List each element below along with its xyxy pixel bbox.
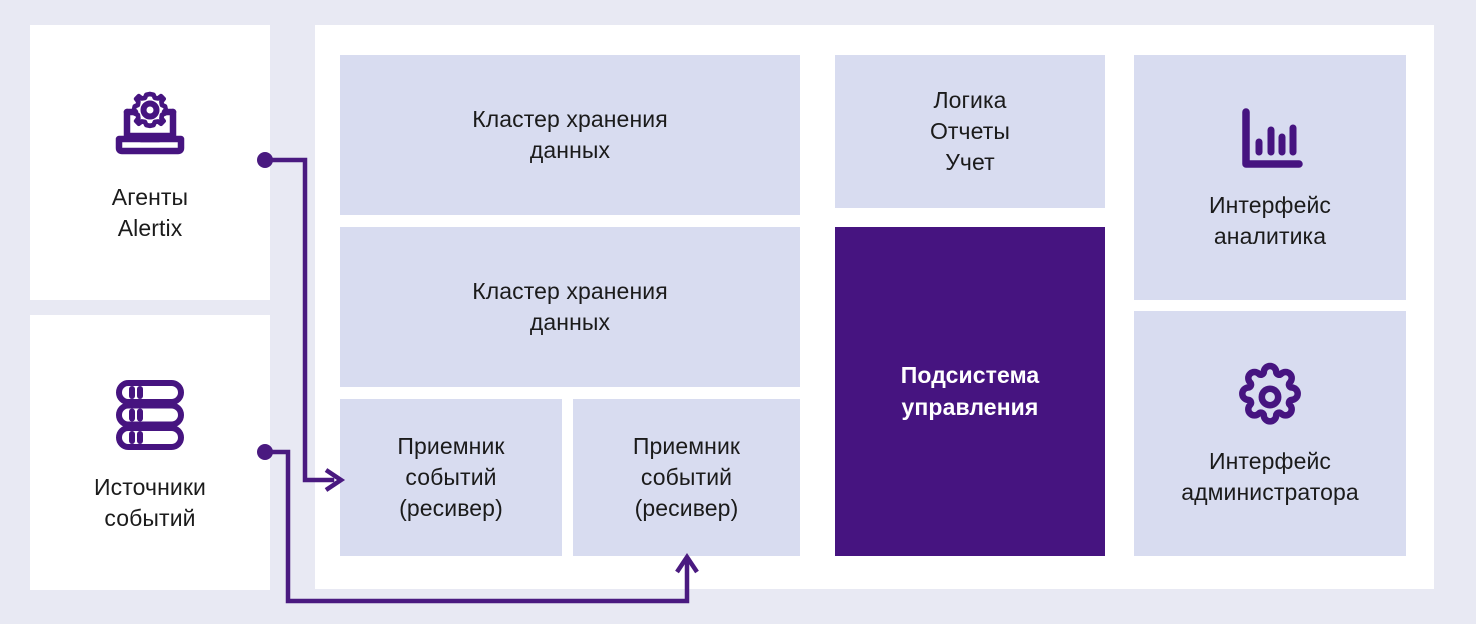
architecture-diagram: Агенты Alertix Источники событий [0,0,1476,624]
block-event-receiver-1-label: Приемник событий (ресивер) [397,431,504,524]
block-admin-interface-label: Интерфейс администратора [1181,446,1359,507]
block-storage-cluster-2[interactable]: Кластер хранения данных [340,227,800,387]
source-card-event-sources-label: Источники событий [94,472,206,533]
block-storage-cluster-1-label: Кластер хранения данных [472,104,668,166]
database-stack-icon [107,372,193,458]
block-logic-reports-accounting-label: Логика Отчеты Учет [930,85,1010,178]
source-card-event-sources[interactable]: Источники событий [30,315,270,590]
gear-icon [1233,360,1307,434]
block-event-receiver-1[interactable]: Приемник событий (ресивер) [340,399,562,556]
bar-chart-icon [1233,104,1307,178]
source-card-agents[interactable]: Агенты Alertix [30,25,270,300]
block-event-receiver-2[interactable]: Приемник событий (ресивер) [573,399,800,556]
block-event-receiver-2-label: Приемник событий (ресивер) [633,431,740,524]
block-storage-cluster-2-label: Кластер хранения данных [472,276,668,338]
block-storage-cluster-1[interactable]: Кластер хранения данных [340,55,800,215]
block-logic-reports-accounting[interactable]: Логика Отчеты Учет [835,55,1105,208]
block-management-subsystem[interactable]: Подсистема управления [835,227,1105,556]
system-container: Кластер хранения данных Кластер хранения… [315,25,1434,589]
laptop-gear-icon [107,82,193,168]
block-analyst-interface-label: Интерфейс аналитика [1209,190,1331,251]
block-analyst-interface[interactable]: Интерфейс аналитика [1134,55,1406,300]
block-admin-interface[interactable]: Интерфейс администратора [1134,311,1406,556]
block-management-subsystem-label: Подсистема управления [901,360,1040,422]
source-card-agents-label: Агенты Alertix [112,182,188,243]
